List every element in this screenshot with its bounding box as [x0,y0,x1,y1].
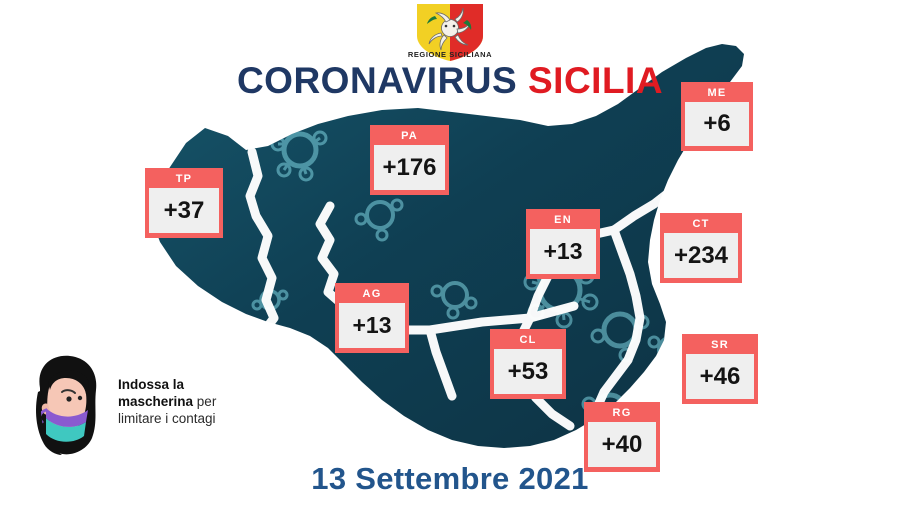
title-secondary: SICILIA [528,60,663,101]
mask-notice-text: Indossa la mascherina per limitare i con… [118,376,264,427]
province-card-en[interactable]: EN+13 [526,209,600,279]
mask-notice-line2-bold: mascherina [118,394,193,409]
mask-notice-line1: Indossa la [118,377,184,392]
province-value: +46 [686,354,754,399]
mask-notice-line2-rest: per [193,394,216,409]
province-code: SR [686,338,754,354]
mask-notice: Indossa la mascherina per limitare i con… [22,352,262,464]
province-code: RG [588,406,656,422]
province-value: +53 [494,349,562,394]
province-value: +13 [339,303,405,348]
province-code: ME [685,86,749,102]
title-primary: CORONAVIRUS [237,60,517,101]
province-value: +13 [530,229,596,274]
province-code: CL [494,333,562,349]
infographic-canvas: REGIONE SICILIANA CORONAVIRUS SICILIA TP… [0,0,900,506]
report-date: 13 Settembre 2021 [0,461,900,497]
province-card-sr[interactable]: SR+46 [682,334,758,404]
province-card-me[interactable]: ME+6 [681,82,753,151]
province-value: +37 [149,188,219,233]
province-card-ct[interactable]: CT+234 [660,213,742,283]
province-code: CT [664,217,738,233]
province-code: PA [374,129,445,145]
emblem-caption: REGIONE SICILIANA [383,50,517,59]
province-code: EN [530,213,596,229]
province-value: +234 [664,233,738,278]
province-value: +6 [685,102,749,146]
province-code: AG [339,287,405,303]
woman-wearing-mask-illustration [22,352,110,460]
mask-notice-line3: limitare i contagi [118,411,216,426]
province-card-pa[interactable]: PA+176 [370,125,449,195]
page-title: CORONAVIRUS SICILIA [0,62,900,99]
province-code: TP [149,172,219,188]
province-card-ag[interactable]: AG+13 [335,283,409,353]
province-card-tp[interactable]: TP+37 [145,168,223,238]
province-card-cl[interactable]: CL+53 [490,329,566,399]
province-value: +176 [374,145,445,190]
